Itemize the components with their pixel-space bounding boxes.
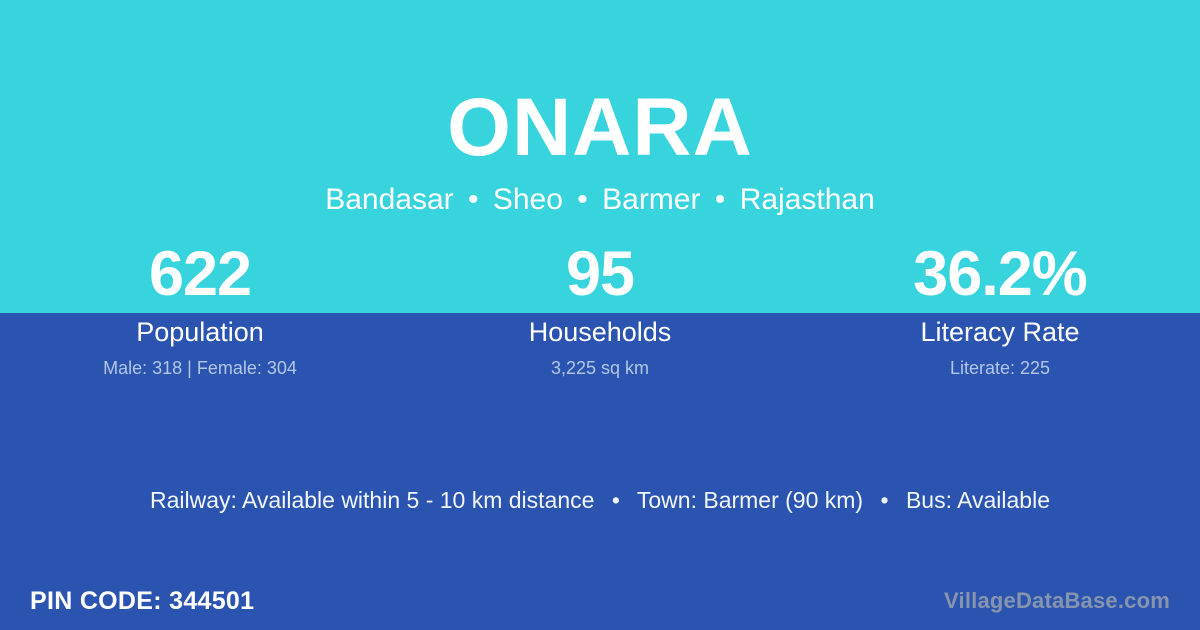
stats-row: 622 Population Male: 318 | Female: 304 9… bbox=[0, 236, 1200, 379]
breadcrumb-separator-icon: • bbox=[709, 183, 732, 216]
stat-population: 622 Population Male: 318 | Female: 304 bbox=[0, 236, 400, 379]
stat-subtext: Literate: 225 bbox=[800, 357, 1200, 379]
amenity-separator-icon: • bbox=[601, 487, 631, 513]
stat-literacy-rate: 36.2% Literacy Rate Literate: 225 bbox=[800, 236, 1200, 379]
amenity-railway: Railway: Available within 5 - 10 km dist… bbox=[150, 487, 594, 513]
breadcrumb-item-state: Rajasthan bbox=[740, 183, 875, 216]
stat-subtext: 3,225 sq km bbox=[400, 357, 800, 379]
amenities-line: Railway: Available within 5 - 10 km dist… bbox=[0, 484, 1200, 516]
breadcrumb-item-district: Barmer bbox=[602, 183, 700, 216]
village-info-card: ONARA Bandasar • Sheo • Barmer • Rajasth… bbox=[0, 0, 1200, 630]
footer: PIN CODE: 344501 VillageDataBase.com bbox=[0, 572, 1200, 630]
amenity-separator-icon: • bbox=[869, 487, 899, 513]
page-title: ONARA bbox=[0, 82, 1200, 174]
breadcrumb-separator-icon: • bbox=[462, 183, 485, 216]
stat-label: Population bbox=[0, 313, 400, 351]
stat-label: Households bbox=[400, 313, 800, 351]
breadcrumb-item-block: Sheo bbox=[493, 183, 563, 216]
breadcrumb: Bandasar • Sheo • Barmer • Rajasthan bbox=[0, 180, 1200, 220]
stat-households: 95 Households 3,225 sq km bbox=[400, 236, 800, 379]
amenity-town: Town: Barmer (90 km) bbox=[637, 487, 863, 513]
stat-value: 36.2% bbox=[800, 236, 1200, 313]
stat-value: 622 bbox=[0, 236, 400, 313]
stat-subtext: Male: 318 | Female: 304 bbox=[0, 357, 400, 379]
stat-label: Literacy Rate bbox=[800, 313, 1200, 351]
site-branding: VillageDataBase.com bbox=[944, 587, 1170, 615]
stat-value: 95 bbox=[400, 236, 800, 313]
pin-code: PIN CODE: 344501 bbox=[30, 586, 254, 616]
breadcrumb-item-village: Bandasar bbox=[325, 183, 453, 216]
amenity-bus: Bus: Available bbox=[906, 487, 1050, 513]
breadcrumb-separator-icon: • bbox=[571, 183, 594, 216]
